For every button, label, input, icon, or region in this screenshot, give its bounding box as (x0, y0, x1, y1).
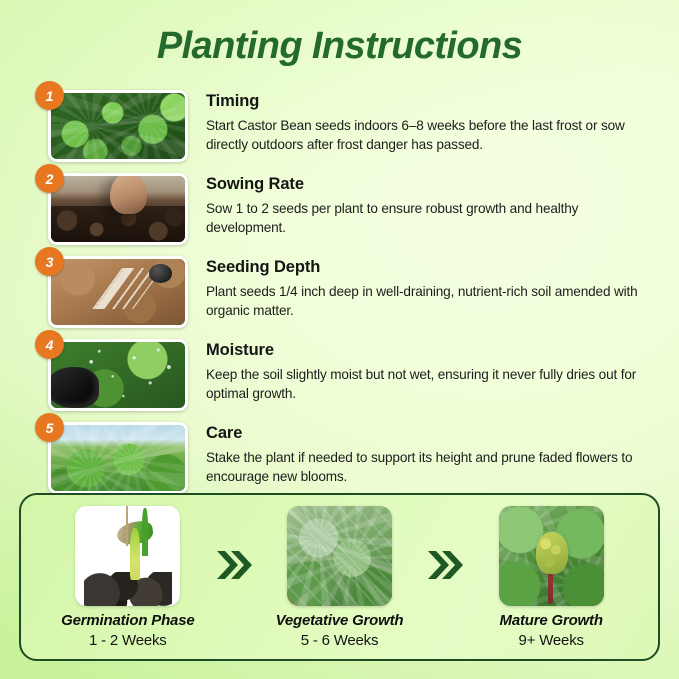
timeline-phase-germination: Germination Phase 1 - 2 Weeks (45, 506, 211, 649)
steps-list: 1 Timing Start Castor Bean seeds indoors… (0, 90, 679, 505)
sprouting-seed-photo (75, 506, 180, 606)
phase-duration: 9+ Weeks (468, 632, 634, 649)
mature-castor-plant-seedpod-photo (499, 506, 604, 606)
step-description: Start Castor Bean seeds indoors 6–8 week… (206, 116, 646, 155)
step-title: Seeding Depth (206, 258, 679, 277)
double-chevron-right-icon (211, 542, 257, 588)
vegetative-castor-plant-photo (287, 506, 392, 606)
step-text: Timing Start Castor Bean seeds indoors 6… (188, 90, 679, 155)
page-title: Planting Instructions (0, 25, 679, 68)
planting-instructions-infographic: Planting Instructions 1 Timing Start Cas… (0, 0, 679, 679)
step-title: Sowing Rate (206, 175, 679, 194)
step-description: Plant seeds 1/4 inch deep in well-draini… (206, 282, 646, 321)
phase-duration: 5 - 6 Weeks (257, 632, 423, 649)
growth-timeline-panel: Germination Phase 1 - 2 Weeks Vegetative… (19, 493, 660, 661)
step-text: Sowing Rate Sow 1 to 2 seeds per plant t… (188, 173, 679, 238)
step-text: Care Stake the plant if needed to suppor… (188, 422, 679, 487)
castor-bean-leaves-photo (48, 90, 188, 162)
step-item-timing: 1 Timing Start Castor Bean seeds indoors… (0, 90, 679, 164)
step-title: Moisture (206, 341, 679, 360)
step-text: Seeding Depth Plant seeds 1/4 inch deep … (188, 256, 679, 321)
step-item-care: 5 Care Stake the plant if needed to supp… (0, 422, 679, 496)
phase-name: Vegetative Growth (257, 612, 423, 629)
step-thumbnail-wrap: 3 (48, 256, 188, 328)
phase-name: Mature Growth (468, 612, 634, 629)
step-number-badge: 4 (35, 330, 64, 359)
castor-plant-under-sky-photo (48, 422, 188, 494)
timeline-phase-mature: Mature Growth 9+ Weeks (468, 506, 634, 649)
step-number-badge: 2 (35, 164, 64, 193)
step-item-sowing-rate: 2 Sowing Rate Sow 1 to 2 seeds per plant… (0, 173, 679, 247)
step-title: Care (206, 424, 679, 443)
step-text: Moisture Keep the soil slightly moist bu… (188, 339, 679, 404)
step-description: Keep the soil slightly moist but not wet… (206, 365, 646, 404)
phase-name: Germination Phase (45, 612, 211, 629)
double-chevron-right-icon (422, 542, 468, 588)
step-thumbnail-wrap: 4 (48, 339, 188, 411)
step-item-seeding-depth: 3 Seeding Depth Plant seeds 1/4 inch dee… (0, 256, 679, 330)
step-description: Stake the plant if needed to support its… (206, 448, 646, 487)
rake-in-soil-photo (48, 256, 188, 328)
step-title: Timing (206, 92, 679, 111)
step-number-badge: 5 (35, 413, 64, 442)
step-number-badge: 1 (35, 81, 64, 110)
step-description: Sow 1 to 2 seeds per plant to ensure rob… (206, 199, 646, 238)
hand-sowing-seed-in-soil-photo (48, 173, 188, 245)
step-item-moisture: 4 Moisture Keep the soil slightly moist … (0, 339, 679, 413)
hose-watering-plants-photo (48, 339, 188, 411)
timeline-phase-vegetative: Vegetative Growth 5 - 6 Weeks (257, 506, 423, 649)
step-thumbnail-wrap: 1 (48, 90, 188, 162)
step-thumbnail-wrap: 5 (48, 422, 188, 494)
step-thumbnail-wrap: 2 (48, 173, 188, 245)
step-number-badge: 3 (35, 247, 64, 276)
phase-duration: 1 - 2 Weeks (45, 632, 211, 649)
